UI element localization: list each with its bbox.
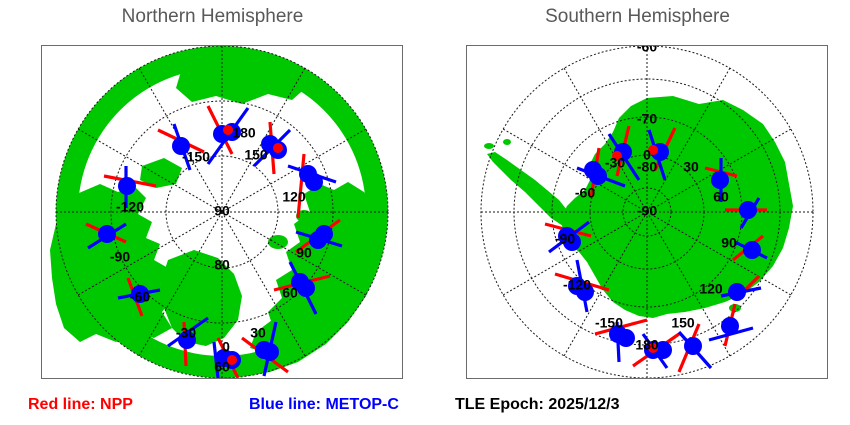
- north-label-lon-m150: -150: [182, 149, 210, 165]
- satellite-coverage-figure: Northern Hemisphere: [0, 0, 850, 425]
- north-label-lat-60: 60: [214, 359, 230, 375]
- south-label-lon-m30: -30: [605, 155, 625, 171]
- southern-hemisphere-plot: 0 30 60 90 120 150 180 -150 -120 -90 -60…: [466, 45, 828, 379]
- south-land-island-1: [484, 143, 494, 149]
- south-label-lon-m90: -90: [555, 231, 575, 247]
- south-label-lon-150: 150: [671, 315, 695, 331]
- north-land-iceland: [172, 353, 204, 371]
- south-label-lon-m60: -60: [575, 185, 595, 201]
- south-label-lon-60: 60: [713, 189, 729, 205]
- north-label-lon-150: 150: [244, 147, 268, 163]
- north-label-lon-m120: -120: [116, 199, 144, 215]
- south-marker-168: [679, 324, 711, 372]
- south-label-lon-180: 180: [635, 337, 659, 353]
- south-label-lat-m90: -90: [637, 203, 657, 219]
- south-label-lon-m120: -120: [563, 277, 591, 293]
- north-label-lat-90: 90: [214, 203, 230, 219]
- south-label-lat-m60: -60: [637, 46, 657, 55]
- northern-hemisphere-plot: 180 -150 -120 -90 -60 -30 0 30 60 90 120…: [41, 45, 403, 379]
- legend-npp-red-line: Red line: NPP: [28, 396, 133, 414]
- legend-metopc-blue-line: Blue line: METOP-C: [249, 396, 399, 414]
- south-label-lon-90: 90: [721, 235, 737, 251]
- south-label-lon-30: 30: [683, 159, 699, 175]
- north-label-lon-90: 90: [296, 245, 312, 261]
- north-label-lon-m90: -90: [110, 249, 130, 265]
- north-label-lon-0: 0: [222, 339, 230, 355]
- northern-hemisphere-panel: Northern Hemisphere: [0, 0, 425, 425]
- southern-hemisphere-panel: Southern Hemisphere: [425, 0, 850, 425]
- southern-hemisphere-title: Southern Hemisphere: [425, 6, 850, 28]
- north-label-lon-120: 120: [282, 189, 306, 205]
- north-label-lon-60: 60: [282, 285, 298, 301]
- north-label-lat-80: 80: [214, 257, 230, 273]
- south-label-lon-m150: -150: [595, 315, 623, 331]
- southern-polar-projection: 0 30 60 90 120 150 180 -150 -120 -90 -60…: [467, 46, 827, 378]
- north-label-lon-m60: -60: [130, 289, 150, 305]
- legend-tle-epoch: TLE Epoch: 2025/12/3: [455, 396, 620, 414]
- northern-hemisphere-title: Northern Hemisphere: [0, 6, 425, 28]
- north-label-lon-m30: -30: [176, 325, 196, 341]
- south-label-lat-m80: -80: [637, 159, 657, 175]
- north-label-lon-30: 30: [250, 325, 266, 341]
- south-land-island-2: [503, 139, 511, 145]
- south-label-lat-m70: -70: [637, 111, 657, 127]
- north-land-svalbard: [268, 235, 288, 249]
- south-label-lon-120: 120: [699, 281, 723, 297]
- northern-polar-projection: 180 -150 -120 -90 -60 -30 0 30 60 90 120…: [42, 46, 402, 378]
- north-label-lon-180: 180: [232, 125, 256, 141]
